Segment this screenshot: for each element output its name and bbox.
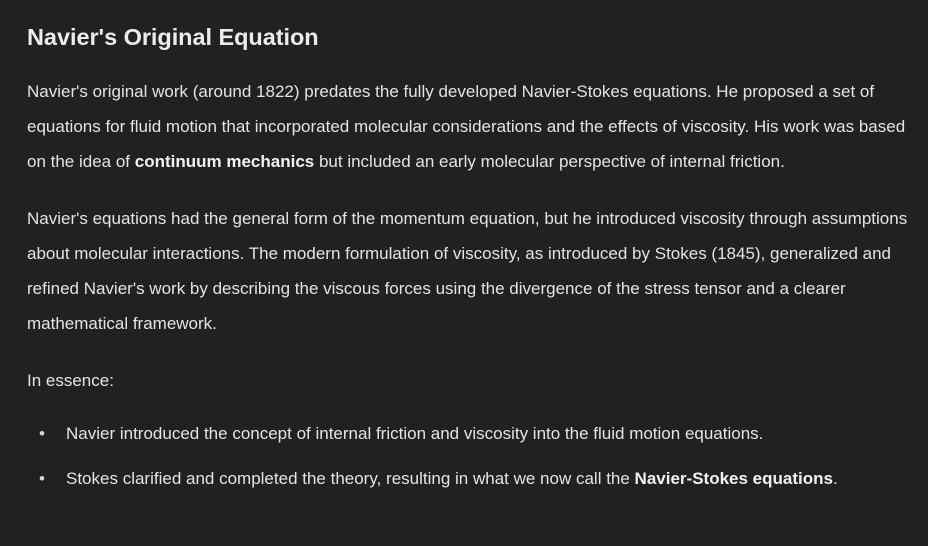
list-item: • Navier introduced the concept of inter…	[27, 416, 918, 451]
text-run: .	[833, 469, 838, 488]
emphasis-text: continuum mechanics	[135, 152, 314, 171]
list-item-text: Stokes clarified and completed the theor…	[66, 461, 918, 496]
list-item: • Stokes clarified and completed the the…	[27, 461, 918, 496]
page-title: Navier's Original Equation	[27, 22, 918, 52]
list-item-text: Navier introduced the concept of interna…	[66, 416, 918, 451]
article-container: Navier's Original Equation Navier's orig…	[0, 0, 928, 546]
text-run: Navier's equations had the general form …	[27, 209, 907, 333]
emphasis-text: Navier-Stokes equations	[635, 469, 833, 488]
body-paragraph-1: Navier's original work (around 1822) pre…	[27, 74, 918, 179]
bullet-point-icon: •	[39, 461, 55, 496]
in-essence-label: In essence:	[27, 363, 918, 398]
text-run: but included an early molecular perspect…	[314, 152, 785, 171]
bullet-point-icon: •	[39, 416, 55, 451]
summary-bullet-list: • Navier introduced the concept of inter…	[27, 416, 918, 496]
text-run: Navier introduced the concept of interna…	[66, 424, 763, 443]
text-run: In essence:	[27, 371, 114, 390]
text-run: Stokes clarified and completed the theor…	[66, 469, 635, 488]
body-paragraph-2: Navier's equations had the general form …	[27, 201, 918, 341]
